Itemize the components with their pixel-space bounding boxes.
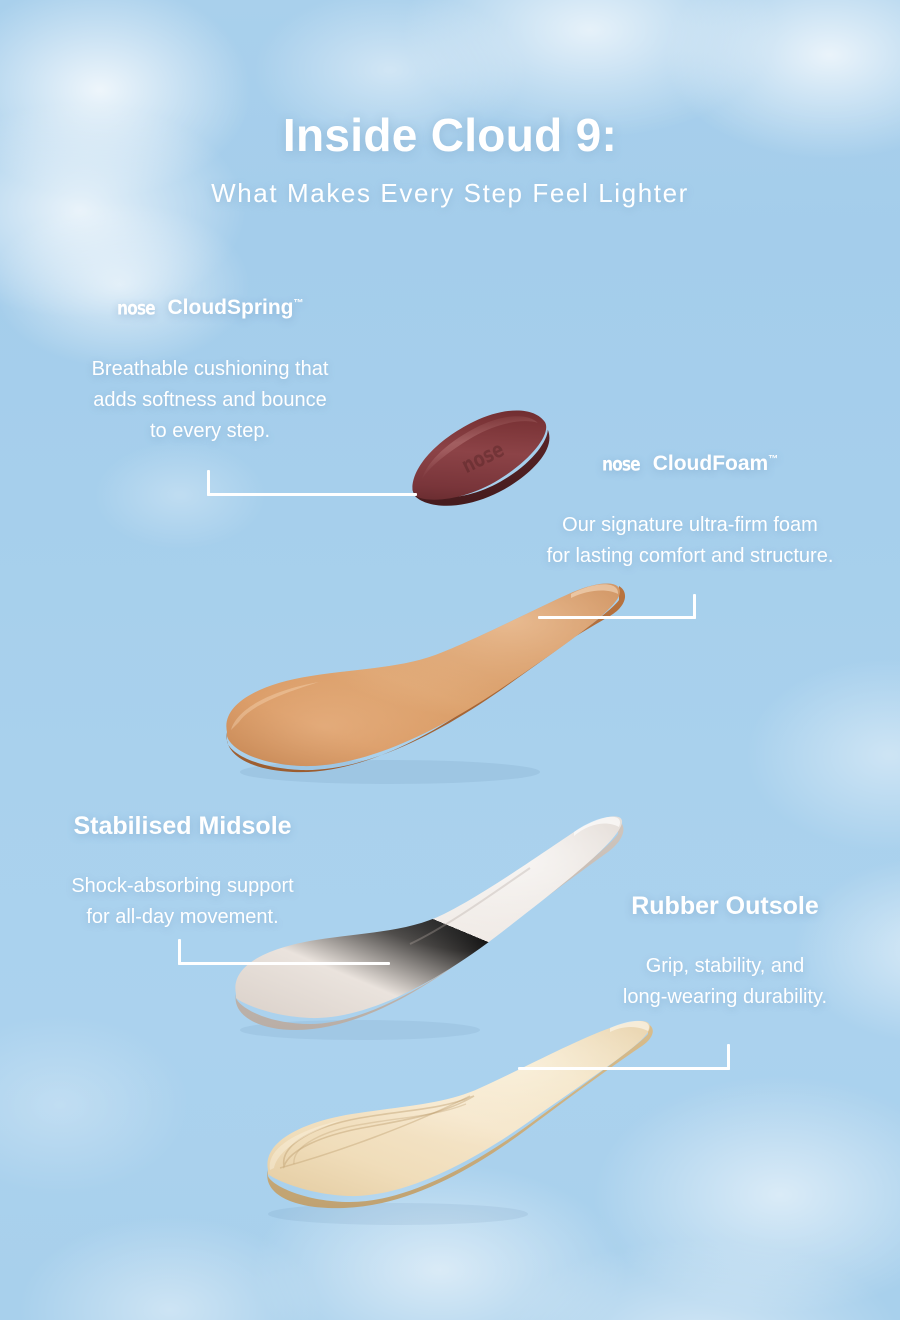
nose-logo-icon: nose	[117, 296, 155, 319]
cloudspring-brand-title: noseCloudSpring™	[40, 296, 380, 320]
cloudfoam-product-name: CloudFoam	[653, 452, 769, 475]
cloudspring-product-name: CloudSpring	[168, 296, 294, 319]
cloudspring-desc-line-3: to every step.	[40, 416, 380, 447]
midsole-desc-line-1: Shock-absorbing support	[10, 871, 355, 902]
cloudspring-desc-line-1: Breathable cushioning that	[40, 354, 380, 385]
outsole-title: Rubber Outsole	[545, 892, 900, 921]
infographic-poster: Inside Cloud 9: What Makes Every Step Fe…	[0, 0, 900, 1320]
cloudfoam-desc-line-1: Our signature ultra-firm foam	[490, 510, 890, 541]
callout-rubber-outsole: Rubber Outsole Grip, stability, and long…	[545, 892, 900, 1013]
cloudspring-desc-line-2: adds softness and bounce	[40, 385, 380, 416]
trademark-icon: ™	[293, 298, 303, 309]
leader-line-midsole	[178, 939, 390, 965]
cloud-decoration	[690, 620, 900, 890]
midsole-title: Stabilised Midsole	[10, 812, 355, 841]
outsole-desc-line-2: long-wearing durability.	[545, 982, 900, 1013]
leader-line-cloudfoam	[538, 594, 696, 619]
trademark-icon: ™	[768, 454, 778, 465]
callout-cloudspring: noseCloudSpring™ Breathable cushioning t…	[40, 296, 380, 447]
page-subtitle: What Makes Every Step Feel Lighter	[0, 178, 900, 209]
callout-cloudfoam: noseCloudFoam™ Our signature ultra-firm …	[490, 452, 890, 572]
cloud-decoration	[0, 980, 240, 1230]
cloudfoam-desc-line-2: for lasting comfort and structure.	[490, 541, 890, 572]
outsole-desc-line-1: Grip, stability, and	[545, 951, 900, 982]
page-title: Inside Cloud 9:	[0, 108, 900, 162]
cloudfoam-brand-title: noseCloudFoam™	[490, 452, 890, 476]
callout-stabilised-midsole: Stabilised Midsole Shock-absorbing suppo…	[10, 812, 355, 933]
midsole-desc-line-2: for all-day movement.	[10, 902, 355, 933]
leader-line-outsole	[518, 1044, 730, 1070]
nose-logo-icon: nose	[602, 452, 640, 475]
cloud-decoration	[600, 0, 900, 200]
leader-line-cloudspring	[207, 470, 417, 496]
